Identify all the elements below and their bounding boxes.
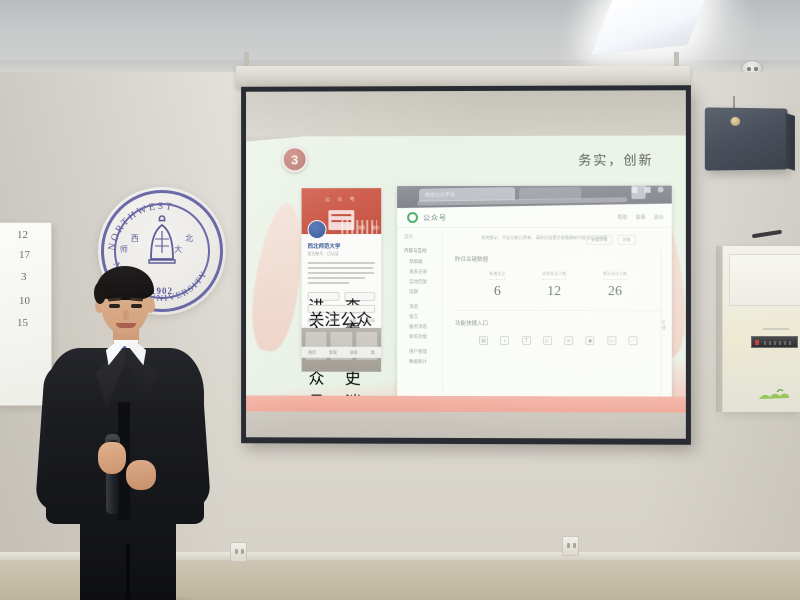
whiteboard-mark: 12 bbox=[17, 229, 28, 241]
feedback-rail-label: 反馈 bbox=[662, 319, 668, 331]
slide-motto: 务实，创新 bbox=[578, 150, 653, 169]
app-sidebar: 首页 内容与互动 草稿箱 发表记录 自动回复 话题 消息 留言 服务消息 新的功… bbox=[397, 228, 443, 397]
sidebar-item-statistics[interactable]: 数据统计 bbox=[409, 359, 442, 365]
phone-history-button[interactable]: 查看历史消息 bbox=[344, 292, 375, 301]
maximize-icon[interactable] bbox=[645, 187, 651, 193]
phone-enter-button[interactable]: 进入公众号 bbox=[308, 292, 339, 301]
stat-value: 26 bbox=[603, 284, 627, 300]
support-link[interactable]: 客服 bbox=[635, 214, 645, 221]
stat-card: 消息发送人数 12 bbox=[542, 271, 566, 300]
logout-link[interactable]: 退出 bbox=[654, 214, 664, 221]
stat-value: 6 bbox=[489, 284, 505, 300]
stats-panel-title: 昨日关键数据 bbox=[455, 255, 662, 263]
app-body: 首页 内容与互动 草稿箱 发表记录 自动回复 话题 消息 留言 服务消息 新的功… bbox=[397, 228, 672, 397]
phone-meta-label: 分享 bbox=[367, 318, 375, 324]
link-icon[interactable]: ∞ bbox=[564, 336, 573, 345]
cabinet-vent-slot bbox=[763, 328, 789, 330]
whiteboard-mark: 15 bbox=[17, 317, 28, 329]
minimize-icon[interactable] bbox=[631, 187, 637, 193]
notice-dismiss-button[interactable]: 忽略 bbox=[617, 235, 635, 245]
projection-screen-surface: 3 务实，创新 公 众 号 首页 消息 我的 西 bbox=[246, 90, 686, 439]
phone-tab[interactable]: 我的 bbox=[371, 225, 379, 231]
phone-description-text bbox=[308, 262, 376, 287]
wall-outlet-icon bbox=[230, 542, 247, 562]
presenter-leg-split bbox=[126, 544, 130, 600]
stat-label: 新增关注 bbox=[489, 271, 505, 280]
sidebar-item-comments[interactable]: 留言 bbox=[409, 314, 442, 320]
presenter-eye-right bbox=[131, 304, 142, 308]
sidebar-item-new-features[interactable]: 新的功能 bbox=[409, 334, 442, 340]
vote-icon[interactable]: ◉ bbox=[586, 336, 595, 345]
wechat-mp-logo-icon bbox=[407, 212, 418, 223]
phone-meta-label: 在看 bbox=[349, 318, 357, 324]
cabinet-plant-decal-icon bbox=[757, 388, 797, 400]
control-panel-buttons[interactable] bbox=[764, 341, 793, 345]
presenter-hand-left bbox=[98, 442, 126, 474]
help-link[interactable]: 帮助 bbox=[617, 214, 627, 221]
whiteboard-mark: 3 bbox=[21, 271, 27, 283]
whiteboard-mark: 10 bbox=[19, 295, 30, 307]
screen-top-margin bbox=[246, 90, 686, 136]
phone-nav-item[interactable]: 首页 bbox=[308, 349, 316, 355]
slide-accent-band bbox=[246, 396, 686, 413]
app-title: 公众号 bbox=[423, 213, 447, 223]
text-icon[interactable]: T bbox=[522, 336, 531, 345]
projection-screen: 3 务实，创新 公 众 号 首页 消息 我的 西 bbox=[241, 85, 691, 445]
close-icon[interactable] bbox=[658, 187, 664, 193]
classroom-photo-scene: 12 17 3 10 15 NORTHWEST NORMAL UNIVERSIT… bbox=[0, 0, 800, 600]
app-header: 公众号 帮助 客服 退出 bbox=[397, 208, 672, 228]
power-led-icon bbox=[755, 340, 759, 345]
decorative-hand-left bbox=[246, 200, 310, 354]
presenter bbox=[40, 252, 220, 600]
phone-nav-item[interactable]: 消息 bbox=[350, 349, 358, 355]
toolbar-icon-row: ▤ ♪ T ▷ ∞ ◉ ▭ ⋯ bbox=[455, 336, 662, 345]
presentation-slide: 3 务实，创新 公 众 号 首页 消息 我的 西 bbox=[246, 136, 686, 397]
sidebar-item-publish-log[interactable]: 发表记录 bbox=[409, 269, 442, 275]
wall-outlet-icon bbox=[562, 536, 579, 556]
phone-account-sub: 官方账号 · 已认证 bbox=[308, 251, 339, 257]
phone-nav-item[interactable]: 发现 bbox=[329, 349, 337, 355]
image-icon[interactable]: ▤ bbox=[479, 336, 488, 345]
sidebar-item-user-management[interactable]: 用户管理 bbox=[409, 349, 442, 355]
presenter-hand-right bbox=[126, 460, 156, 490]
whiteboard-mark: 17 bbox=[19, 249, 30, 261]
voice-icon[interactable]: ♪ bbox=[500, 336, 509, 345]
sidebar-item-service-messages[interactable]: 服务消息 bbox=[409, 324, 442, 330]
sidebar-item-auto-reply[interactable]: 自动回复 bbox=[409, 279, 442, 285]
notice-bar: 系统提示：平台功能已更新，请前往设置页查看最新内容规范与说明 查看详情 忽略 bbox=[481, 235, 636, 246]
phone-nav-item[interactable]: 我 bbox=[371, 349, 375, 355]
stat-label: 消息发送人数 bbox=[542, 271, 566, 280]
phone-hero-title: 公 众 号 bbox=[302, 196, 382, 203]
speaker-side-panel bbox=[786, 113, 795, 171]
app-main-content: 系统提示：平台功能已更新，请前往设置页查看最新内容规范与说明 查看详情 忽略 昨… bbox=[443, 228, 672, 397]
phone-button-row: 进入公众号 查看历史消息 bbox=[308, 292, 376, 301]
browser-title-bar: 微信公众平台 bbox=[397, 186, 672, 208]
phone-meta-label: 点赞 bbox=[330, 318, 338, 324]
cabinet-control-panel[interactable] bbox=[751, 336, 798, 348]
presenter-eye-left bbox=[109, 304, 120, 308]
stat-card: 累计关注人数 26 bbox=[603, 271, 627, 300]
screen-bottom-margin bbox=[246, 411, 686, 438]
window-controls bbox=[631, 187, 663, 194]
sidebar-group-heading: 内容与互动 bbox=[404, 248, 442, 254]
presenter-nose bbox=[123, 310, 129, 320]
stat-card: 新增关注 6 bbox=[489, 271, 505, 300]
phone-screenshot-mockup: 公 众 号 首页 消息 我的 西北师范大学 官方账号 · 已认证 bbox=[302, 188, 382, 358]
presenter-mouth bbox=[116, 323, 136, 328]
browser-tab-label: 微信公众平台 bbox=[425, 191, 455, 199]
stats-row: 新增关注 6 消息发送人数 12 累计关注人数 26 bbox=[455, 271, 662, 300]
phone-follow-button[interactable]: 关注公众号 bbox=[308, 305, 376, 313]
presenter-hair bbox=[96, 266, 154, 300]
phone-account-avatar bbox=[308, 220, 327, 239]
slide-number-badge: 3 bbox=[282, 146, 308, 172]
wall-speaker-icon bbox=[705, 107, 788, 170]
speaker-driver-icon bbox=[731, 117, 741, 126]
feedback-rail[interactable]: 反馈 bbox=[661, 250, 669, 397]
phone-meta-row: 阅读量 点赞 在看 分享 bbox=[308, 318, 376, 324]
stat-label: 累计关注人数 bbox=[603, 271, 627, 280]
video-icon[interactable]: ▷ bbox=[543, 336, 552, 345]
app-header-actions: 帮助 客服 退出 bbox=[617, 214, 663, 221]
notice-detail-button[interactable]: 查看详情 bbox=[586, 235, 612, 245]
shortcuts-panel-title: 功能快捷入口 bbox=[455, 319, 662, 327]
notice-actions: 查看详情 忽略 bbox=[586, 235, 635, 245]
phone-hero-tabs: 首页 消息 我的 bbox=[343, 225, 379, 231]
phone-account-name: 西北师范大学 bbox=[308, 242, 341, 250]
phone-meta-label: 阅读量 bbox=[308, 318, 320, 324]
sidebar-item-drafts[interactable]: 草稿箱 bbox=[409, 259, 442, 265]
cabinet-door[interactable] bbox=[729, 254, 800, 306]
more-icon[interactable]: ⋯ bbox=[628, 336, 637, 345]
phone-tab[interactable]: 首页 bbox=[343, 225, 351, 231]
browser-screenshot-mockup: 微信公众平台 公众号 bbox=[397, 186, 672, 397]
equipment-cabinet bbox=[722, 246, 800, 412]
card-icon[interactable]: ▭ bbox=[607, 336, 616, 345]
sidebar-item-topics[interactable]: 话题 bbox=[409, 289, 442, 295]
phone-tab[interactable]: 消息 bbox=[357, 225, 365, 231]
stat-value: 12 bbox=[542, 284, 566, 300]
sidebar-item-home[interactable]: 首页 bbox=[404, 234, 442, 240]
panel-divider bbox=[455, 310, 662, 311]
phone-bottom-navbar: 首页 发现 消息 我 bbox=[302, 347, 382, 358]
sidebar-item-messages[interactable]: 消息 bbox=[409, 304, 442, 310]
